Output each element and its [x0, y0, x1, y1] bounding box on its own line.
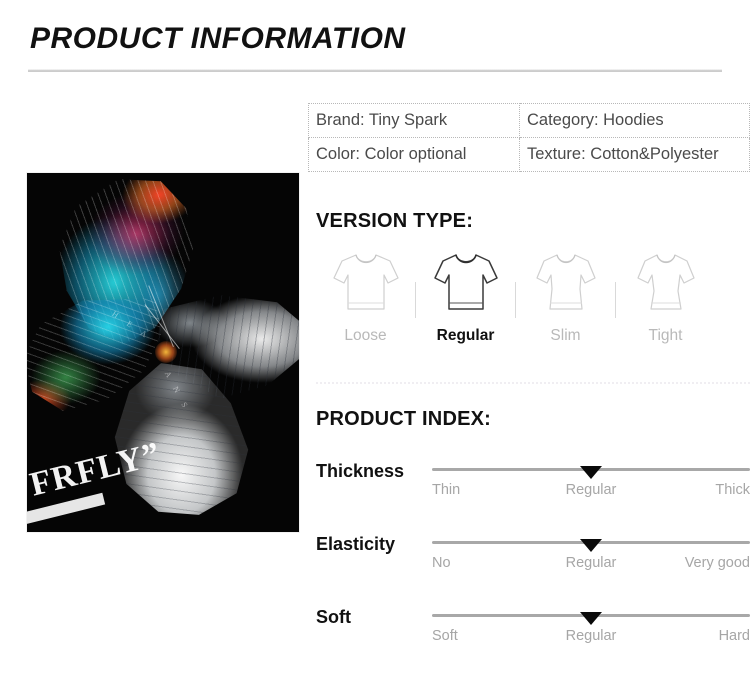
- slider-tick-mid: Regular: [566, 628, 617, 644]
- version-option-label: Loose: [344, 327, 386, 345]
- index-label: Soft: [316, 607, 351, 628]
- version-type-options: Loose Regular Slim: [316, 248, 750, 345]
- slider-marker-icon[interactable]: [580, 466, 602, 479]
- index-label: Elasticity: [316, 534, 395, 555]
- slider-ticks: Soft Regular Hard: [432, 628, 750, 644]
- slider-marker-icon[interactable]: [580, 539, 602, 552]
- index-row-thickness: Thickness Thin Regular Thick: [316, 455, 750, 513]
- thickness-slider[interactable]: Thin Regular Thick: [432, 455, 750, 513]
- slider-tick-mid: Regular: [566, 482, 617, 498]
- slider-tick-high: Thick: [715, 482, 750, 498]
- product-details-panel: Brand: Tiny Spark Category: Hoodies Colo…: [308, 0, 750, 688]
- version-option-loose[interactable]: Loose: [316, 248, 415, 345]
- index-label: Thickness: [316, 461, 404, 482]
- index-row-soft: Soft Soft Regular Hard: [316, 601, 750, 659]
- soft-slider[interactable]: Soft Regular Hard: [432, 601, 750, 659]
- butterfly-body: [155, 341, 177, 363]
- version-option-label: Regular: [437, 327, 495, 345]
- tshirt-tight-icon: [630, 248, 702, 321]
- cell-color: Color: Color optional: [309, 138, 520, 172]
- tshirt-regular-icon: [430, 248, 502, 321]
- tshirt-loose-icon: [330, 248, 402, 321]
- table-row: Brand: Tiny Spark Category: Hoodies: [309, 104, 750, 138]
- tshirt-slim-icon: [530, 248, 602, 321]
- version-type-heading: VERSION TYPE:: [316, 210, 473, 233]
- section-divider: [316, 382, 750, 384]
- slider-marker-icon[interactable]: [580, 612, 602, 625]
- table-row: Color: Color optional Texture: Cotton&Po…: [309, 138, 750, 172]
- slider-ticks: Thin Regular Thick: [432, 482, 750, 498]
- product-index-heading: PRODUCT INDEX:: [316, 408, 491, 431]
- slider-tick-low: Thin: [432, 482, 460, 498]
- elasticity-slider[interactable]: No Regular Very good: [432, 528, 750, 586]
- cell-category: Category: Hoodies: [520, 104, 750, 138]
- slider-tick-low: No: [432, 555, 451, 571]
- slider-tick-mid: Regular: [566, 555, 617, 571]
- version-option-label: Slim: [550, 327, 580, 345]
- version-option-slim[interactable]: Slim: [516, 248, 615, 345]
- slider-tick-high: Very good: [685, 555, 750, 571]
- cell-brand: Brand: Tiny Spark: [309, 104, 520, 138]
- cell-texture: Texture: Cotton&Polyester: [520, 138, 750, 172]
- slider-tick-low: Soft: [432, 628, 458, 644]
- product-attributes-table: Brand: Tiny Spark Category: Hoodies Colo…: [308, 103, 750, 172]
- version-option-label: Tight: [649, 327, 683, 345]
- slider-ticks: No Regular Very good: [432, 555, 750, 571]
- product-image: H E A A N S FRFLY”: [26, 172, 300, 533]
- version-option-tight[interactable]: Tight: [616, 248, 715, 345]
- slider-tick-high: Hard: [719, 628, 750, 644]
- version-option-regular[interactable]: Regular: [416, 248, 515, 345]
- index-row-elasticity: Elasticity No Regular Very good: [316, 528, 750, 586]
